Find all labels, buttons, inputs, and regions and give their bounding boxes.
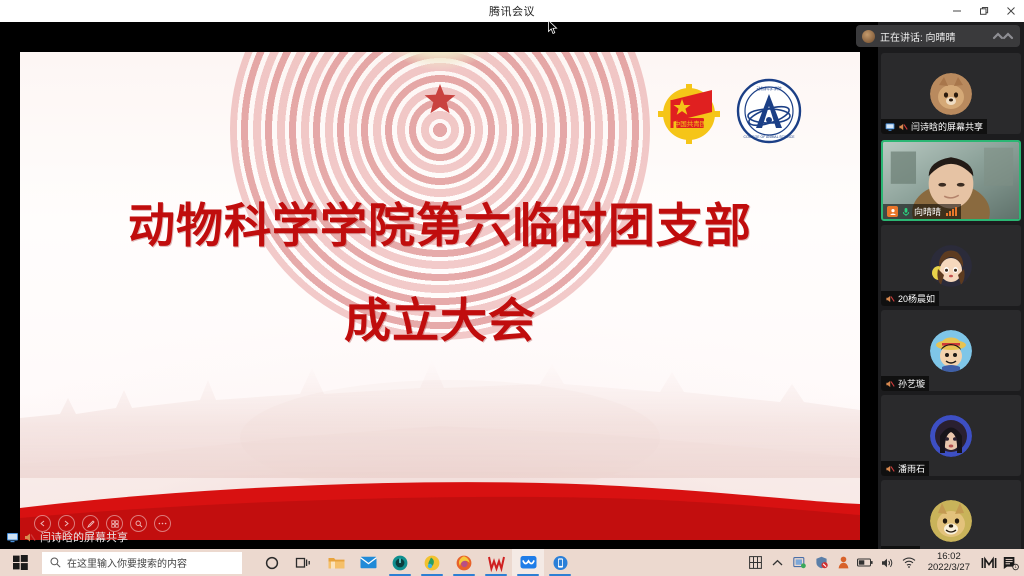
participant-name: 闫诗晗的屏幕共享 xyxy=(911,120,983,133)
participant-name-chip: 潘雨石 xyxy=(881,461,929,476)
cortana-icon[interactable] xyxy=(256,549,288,576)
participant-name-chip: 向晴晴 xyxy=(883,204,961,219)
minimize-button[interactable] xyxy=(943,0,970,22)
participant-name: 孙艺璇 xyxy=(898,377,925,390)
search-icon xyxy=(50,557,61,568)
more-options-button[interactable] xyxy=(154,515,171,532)
restore-button[interactable] xyxy=(970,0,997,22)
show-hidden-icons-icon[interactable] xyxy=(770,555,785,570)
svg-text:动物科学学院: 动物科学学院 xyxy=(756,85,782,92)
participant-name: 20杨晨如 xyxy=(898,292,935,305)
dark-hair-girl-avatar xyxy=(930,415,972,457)
participant-tile-screen-share[interactable]: 闫诗晗的屏幕共享 xyxy=(881,53,1021,134)
user-icon[interactable] xyxy=(836,555,851,570)
active-speaker-avatar xyxy=(862,30,875,43)
notification-icon[interactable]: 1 xyxy=(1003,555,1018,570)
screen-root: 腾讯会议 xyxy=(0,0,1024,576)
network-icon[interactable] xyxy=(902,555,917,570)
taskbar-icons[interactable] xyxy=(256,549,576,576)
meeting-window: 中国共青团 动物科学学院 COLLEGE OF ANIMAL SCI xyxy=(0,22,1024,549)
volume-icon[interactable] xyxy=(880,555,895,570)
participant-tile[interactable]: 孙艺璇 xyxy=(881,310,1021,391)
luffy-avatar xyxy=(930,330,972,372)
mail-icon[interactable] xyxy=(352,549,384,576)
wps-office-icon[interactable] xyxy=(480,549,512,576)
participant-name-chip: 孙艺璇 xyxy=(881,376,929,391)
chevron-collapse-icon[interactable] xyxy=(992,31,1014,41)
clock-date: 2022/3/27 xyxy=(928,563,970,574)
tencent-meeting-icon[interactable] xyxy=(512,549,544,576)
security-icon[interactable] xyxy=(814,555,829,570)
slide-headline-line2: 成立大会 xyxy=(20,297,860,346)
microphone-muted-icon xyxy=(885,464,895,474)
participant-tile[interactable]: 潘雨石 xyxy=(881,395,1021,476)
start-button[interactable] xyxy=(0,549,40,576)
ime-icon[interactable] xyxy=(748,555,763,570)
screen-share-owner-label: 闫诗晗的屏幕共享 xyxy=(40,529,128,545)
active-speaker-banner[interactable]: 正在讲话: 向晴晴 xyxy=(856,25,1020,47)
close-button[interactable] xyxy=(997,0,1024,22)
host-badge-icon xyxy=(887,206,898,217)
svg-text:COLLEGE OF ANIMAL SCIENCE: COLLEGE OF ANIMAL SCIENCE xyxy=(744,135,796,139)
task-view-icon[interactable] xyxy=(288,549,320,576)
microphone-muted-icon xyxy=(885,294,895,304)
microphone-on-icon xyxy=(901,207,911,217)
phone-link-icon[interactable] xyxy=(544,549,576,576)
screen-share-footer: 闫诗晗的屏幕共享 xyxy=(6,529,128,545)
active-speaker-label: 正在讲话: 向晴晴 xyxy=(880,29,956,44)
taskbar-clock[interactable]: 16:02 2022/3/27 xyxy=(924,552,974,574)
anime-girl-avatar xyxy=(930,245,972,287)
file-explorer-icon[interactable] xyxy=(320,549,352,576)
zoom-button[interactable] xyxy=(130,515,147,532)
communist-youth-league-emblem-icon: 中国共青团 xyxy=(656,78,722,144)
monitor-icon xyxy=(6,531,19,544)
windows-taskbar[interactable]: 在这里输入你要搜索的内容 xyxy=(0,549,1024,576)
participant-strip[interactable]: 正在讲话: 向晴晴 xyxy=(878,22,1024,549)
window-controls xyxy=(943,0,1024,22)
slide-logos: 中国共青团 动物科学学院 COLLEGE OF ANIMAL SCI xyxy=(656,78,802,144)
battery-icon[interactable] xyxy=(858,555,873,570)
svg-text:中国共青团: 中国共青团 xyxy=(674,119,707,128)
window-title: 腾讯会议 xyxy=(489,3,535,19)
participant-tile[interactable]: 20杨晨如 xyxy=(881,225,1021,306)
shiba-dog-avatar xyxy=(930,73,972,115)
microphone-muted-icon xyxy=(885,379,895,389)
microphone-muted-icon xyxy=(898,122,908,132)
monitor-icon xyxy=(885,122,895,132)
presentation-slide[interactable]: 中国共青团 动物科学学院 COLLEGE OF ANIMAL SCI xyxy=(20,52,860,540)
yellow-app-icon[interactable] xyxy=(416,549,448,576)
red-star-icon xyxy=(423,82,457,116)
screenshot-icon[interactable] xyxy=(792,555,807,570)
clock-time: 16:02 xyxy=(928,552,970,563)
participant-name: 潘雨石 xyxy=(898,462,925,475)
search-placeholder: 在这里输入你要搜索的内容 xyxy=(67,555,187,570)
shared-screen-area[interactable]: 中国共青团 动物科学学院 COLLEGE OF ANIMAL SCI xyxy=(0,22,878,549)
search-input[interactable]: 在这里输入你要搜索的内容 xyxy=(42,552,242,574)
college-seal-icon: 动物科学学院 COLLEGE OF ANIMAL SCIENCE xyxy=(736,78,802,144)
slide-headline: 动物科学学院第六临时团支部 成立大会 xyxy=(20,202,860,347)
system-tray[interactable]: 16:02 2022/3/27 1 xyxy=(748,552,1024,574)
window-title-bar: 腾讯会议 xyxy=(0,0,1024,22)
slide-headline-line1: 动物科学学院第六临时团支部 xyxy=(20,202,860,251)
signal-strength-icon xyxy=(946,207,957,216)
participant-tile-active-speaker[interactable]: 向晴晴 xyxy=(881,140,1021,221)
firefox-icon[interactable] xyxy=(448,549,480,576)
participant-name-chip: 闫诗晗的屏幕共享 xyxy=(881,119,987,134)
shiba-meme-avatar xyxy=(930,500,972,542)
speaker-muted-icon xyxy=(23,531,36,544)
teal-app-icon[interactable] xyxy=(384,549,416,576)
participant-name-chip: 20杨晨如 xyxy=(881,291,939,306)
participant-name: 向晴晴 xyxy=(914,205,941,218)
ime-mode-indicator[interactable] xyxy=(981,555,996,570)
